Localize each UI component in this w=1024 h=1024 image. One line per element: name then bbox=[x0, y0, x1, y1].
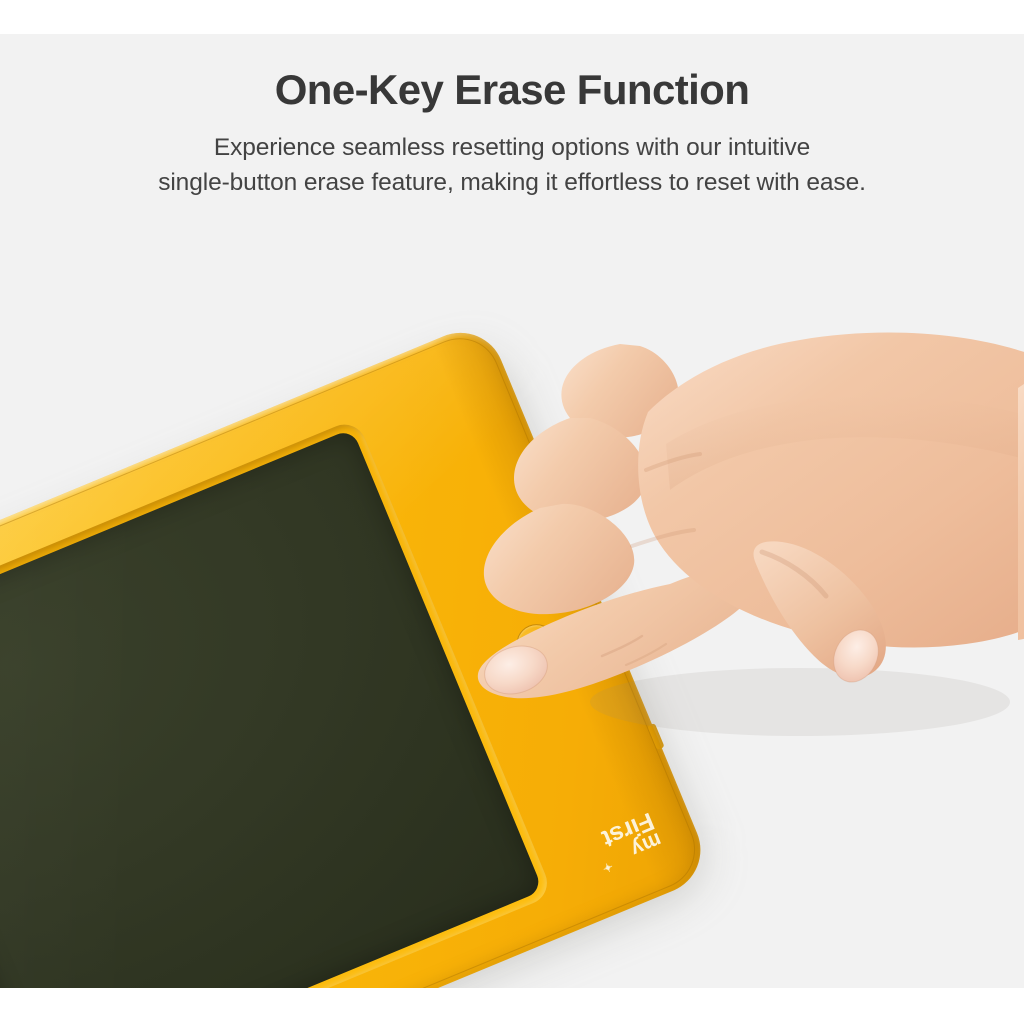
screen-sheen bbox=[0, 428, 471, 988]
bottom-white-band bbox=[0, 988, 1024, 1024]
product-feature-banner: my ✦ First bbox=[0, 0, 1024, 1024]
top-white-band bbox=[0, 0, 1024, 34]
page-subtitle-line-1: Experience seamless resetting options wi… bbox=[0, 131, 1024, 166]
hand-middle-finger bbox=[484, 504, 634, 614]
page-title: One-Key Erase Function bbox=[0, 66, 1024, 114]
page-subtitle-line-2: single-button erase feature, making it e… bbox=[0, 166, 1024, 201]
brand-logo: my ✦ First bbox=[599, 809, 664, 867]
page-subtitle: Experience seamless resetting options wi… bbox=[0, 131, 1024, 201]
hand-shadow bbox=[590, 668, 1010, 736]
lcd-screen[interactable] bbox=[0, 428, 543, 988]
pointing-hand-icon bbox=[470, 284, 1024, 754]
hand-wrist bbox=[1018, 380, 1024, 640]
sparkle-icon: ✦ bbox=[601, 861, 615, 875]
header-text-block: One-Key Erase Function Experience seamle… bbox=[0, 66, 1024, 200]
